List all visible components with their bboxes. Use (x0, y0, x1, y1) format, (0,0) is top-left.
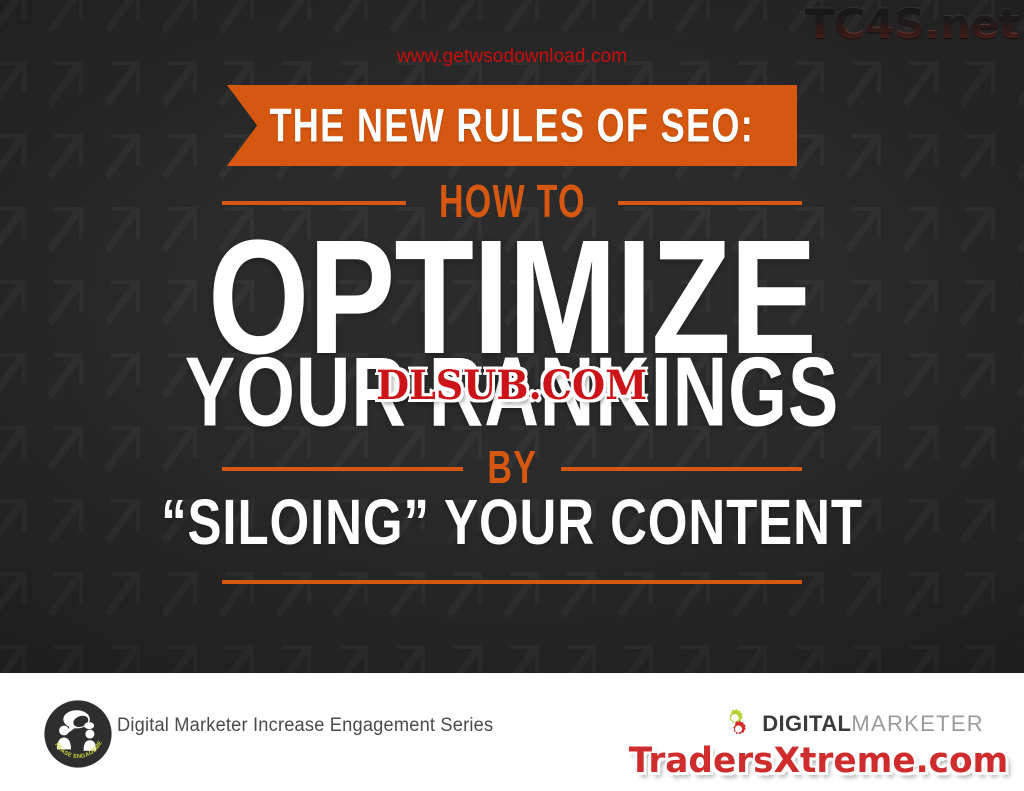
digitalmarketer-wordmark: DIGITALMARKETER (762, 713, 984, 735)
brand-marketer: MARKETER (851, 711, 984, 736)
tc4s-watermark: TC4S.net (804, 3, 1018, 45)
rule-left-by (222, 467, 463, 471)
infographic-slide: www.getwsodownload.com TC4S.net THE NEW … (0, 0, 1024, 791)
headline-by: BY (470, 445, 554, 491)
rule-left-how-to (222, 201, 406, 205)
headline-siloing: “SILOING” YOUR CONTENT (61, 491, 962, 555)
ribbon-title: THE NEW RULES OF SEO: (270, 102, 755, 149)
digitalmarketer-logo: DIGITALMARKETER (718, 706, 984, 742)
top-url-watermark: www.getwsodownload.com (0, 46, 1024, 68)
tradersxtreme-watermark: TradersXtreme.com (628, 744, 1008, 779)
ribbon-banner: THE NEW RULES OF SEO: (227, 85, 797, 166)
gear-green-icon (729, 709, 743, 723)
dlsub-watermark-wrap: DLSUB.COM (0, 366, 1024, 406)
rule-bottom (222, 580, 802, 584)
by-row: BY (222, 446, 802, 492)
gear-red-icon (733, 721, 746, 735)
brand-digital: DIGITAL (762, 711, 851, 736)
dlsub-watermark: DLSUB.COM (376, 366, 647, 406)
rule-right-how-to (618, 201, 802, 205)
footer-caption: Digital Marketer Increase Engagement Ser… (117, 715, 493, 737)
increase-engagement-badge-icon: INCREASE ENGAGEMENT (43, 699, 113, 769)
rule-right-by (561, 467, 802, 471)
gears-icon (718, 706, 758, 742)
